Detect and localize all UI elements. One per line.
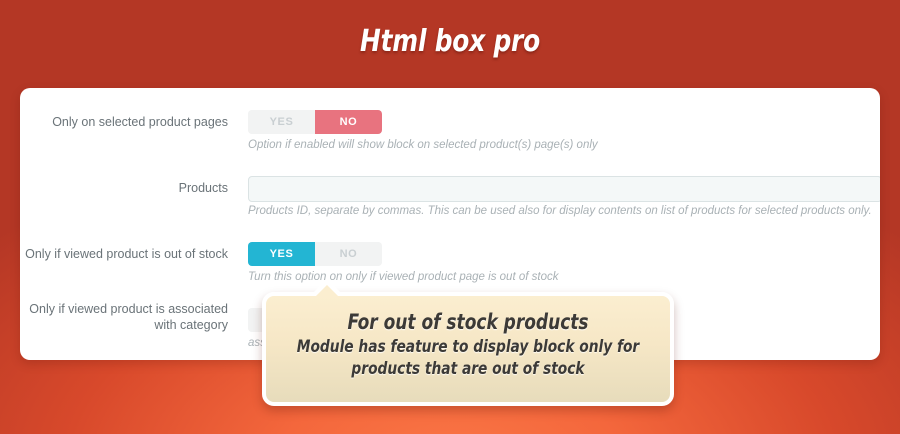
row-label-line-2: with category xyxy=(20,317,228,333)
screenshot-stage: Html box pro Only on selected product pa… xyxy=(0,0,900,434)
row-help-text: Option if enabled will show block on sel… xyxy=(248,138,598,152)
yes-no-switch-out-of-stock[interactable]: YESNO xyxy=(248,242,382,266)
callout-body-line-1: Module has feature to display block only… xyxy=(286,336,650,358)
form-row-out-of-stock: Only if viewed product is out of stock Y… xyxy=(20,242,880,268)
callout-body-line-2: products that are out of stock xyxy=(286,358,650,380)
feature-callout-tooltip: For out of stock products Module has fea… xyxy=(262,292,674,406)
callout-title: For out of stock products xyxy=(286,310,650,335)
row-label: Only if viewed product is associated wit… xyxy=(20,301,228,333)
form-row-only-selected-product-pages: Only on selected product pages YESNO Opt… xyxy=(20,110,880,136)
page-title: Html box pro xyxy=(36,24,864,59)
row-control xyxy=(248,176,880,202)
switch-yes-option[interactable]: YES xyxy=(248,242,315,266)
row-label: Only on selected product pages xyxy=(20,110,228,130)
row-help-text: Products ID, separate by commas. This ca… xyxy=(248,204,872,218)
row-label-line-1: Only if viewed product is associated xyxy=(20,301,228,317)
form-row-products: Products Products ID, separate by commas… xyxy=(20,176,880,202)
switch-no-option[interactable]: NO xyxy=(315,110,382,134)
row-help-text: Turn this option on only if viewed produ… xyxy=(248,270,558,284)
row-label: Only if viewed product is out of stock xyxy=(20,242,228,262)
switch-yes-option[interactable]: YES xyxy=(248,110,315,134)
row-label: Products xyxy=(20,176,228,196)
callout-arrow-icon xyxy=(315,285,339,297)
yes-no-switch-selected-pages[interactable]: YESNO xyxy=(248,110,382,134)
row-control: YESNO xyxy=(248,242,382,271)
products-input[interactable] xyxy=(248,176,880,202)
row-control: YESNO xyxy=(248,110,382,139)
switch-no-option[interactable]: NO xyxy=(315,242,382,266)
